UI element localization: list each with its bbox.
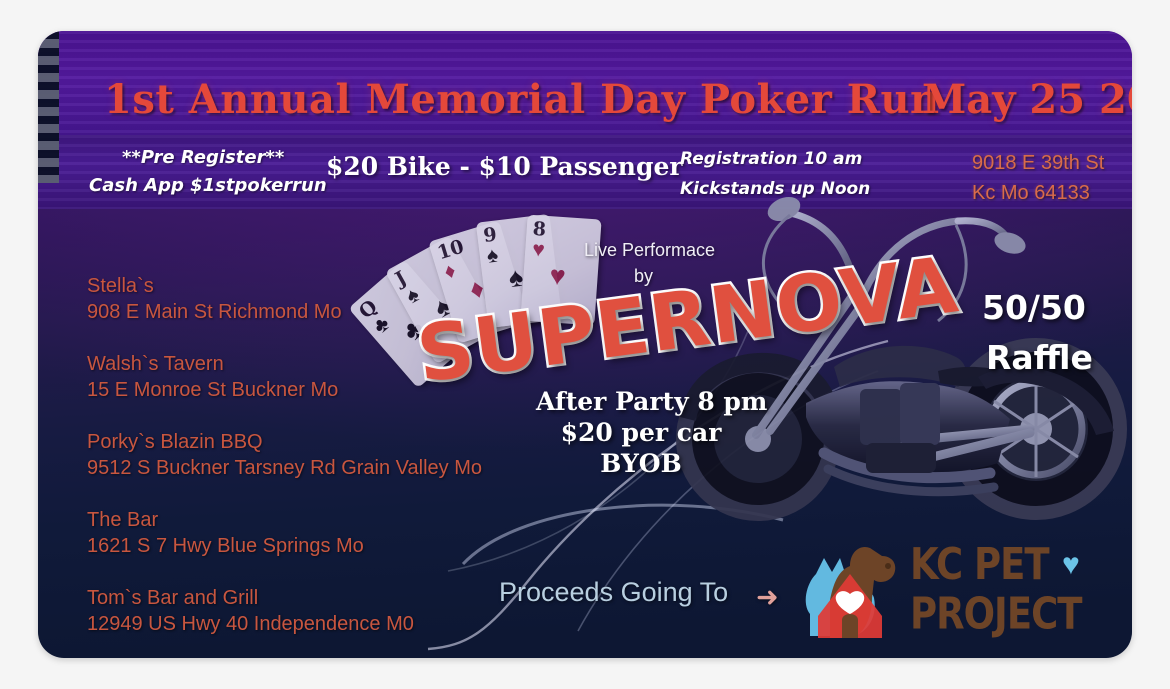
screenshot-canvas: 1st Annual Memorial Day Poker Run May 25… [0, 0, 1170, 689]
after-party-details: After Party 8 pm $20 per car BYOB [536, 386, 746, 479]
live-performance-text: Live Performace [584, 240, 715, 260]
glitch-stripe-artifact [38, 31, 59, 183]
entry-fees: $20 Bike - $10 Passenger [326, 152, 683, 181]
stop-address: 1621 S 7 Hwy Blue Springs Mo [87, 533, 557, 559]
after-party-time: After Party 8 pm [536, 387, 767, 416]
pre-register-label: **Pre Register** [122, 147, 284, 168]
stop-name: The Bar [87, 507, 557, 533]
stop-address: 9512 S Buckner Tarsney Rd Grain Valley M… [87, 455, 557, 481]
kc-pet-project-logo: KC PET PROJECT ♥ [794, 534, 1104, 646]
logo-line-2: PROJECT [910, 590, 1082, 640]
list-item: Porky`s Blazin BBQ 9512 S Buckner Tarsne… [87, 429, 557, 481]
event-flyer-poster: 1st Annual Memorial Day Poker Run May 25… [38, 31, 1132, 658]
cat-dog-house-icon [794, 538, 906, 644]
kc-pet-project-wordmark: KC PET PROJECT [910, 540, 1082, 639]
stop-name: Stella`s [87, 273, 557, 299]
heart-icon: ♥ [1062, 548, 1080, 582]
list-item: Tom`s Bar and Grill 12949 US Hwy 40 Inde… [87, 585, 557, 637]
arrow-right-icon: ➜ [756, 582, 779, 613]
list-item: The Bar 1621 S 7 Hwy Blue Springs Mo [87, 507, 557, 559]
logo-line-1: KC PET [910, 540, 1082, 590]
cash-app-handle: Cash App $1stpokerrun [89, 172, 327, 200]
spade-icon: ♠ [486, 245, 500, 267]
raffle-ratio: 50/50 [982, 288, 1086, 327]
page-title: 1st Annual Memorial Day Poker Run [104, 76, 940, 123]
after-party-price: $20 per car [561, 418, 722, 447]
stop-address: 12949 US Hwy 40 Independence M0 [87, 611, 557, 637]
registration-time: Registration 10 am [680, 149, 862, 169]
proceeds-label: Proceeds Going To [499, 577, 728, 608]
stop-name: Tom`s Bar and Grill [87, 585, 557, 611]
after-party-byob: BYOB [600, 449, 681, 478]
raffle-callout: 50/50 Raffle [982, 283, 1093, 383]
heart-icon: ♥ [532, 239, 546, 261]
address-line-1: 9018 E 39th St [972, 152, 1104, 174]
event-date: May 25 2024 [922, 76, 1132, 123]
raffle-label: Raffle [986, 333, 1093, 383]
pre-register-note: **Pre Register** Cash App $1stpokerrun [122, 144, 360, 200]
stop-name: Porky`s Blazin BBQ [87, 429, 557, 455]
